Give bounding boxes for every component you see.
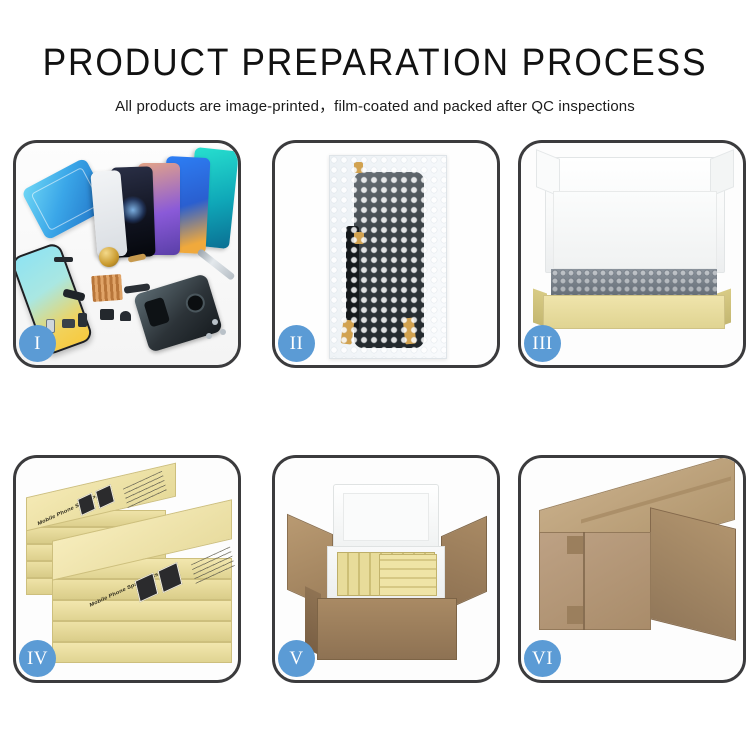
page-title: PRODUCT PREPARATION PROCESS bbox=[26, 44, 724, 82]
box-product-thumbnail bbox=[95, 484, 115, 509]
earpiece-part bbox=[120, 311, 131, 321]
carton-flap-tab bbox=[567, 606, 583, 624]
step-badge-1: I bbox=[19, 325, 56, 362]
step-badge-4: IV bbox=[19, 640, 56, 677]
process-step-card-3: III bbox=[518, 140, 746, 368]
camera-module-part bbox=[100, 309, 114, 320]
foam-box-lid bbox=[333, 484, 439, 550]
carton-flap-tab bbox=[567, 536, 583, 554]
step-badge-5: V bbox=[278, 640, 315, 677]
bubble-wrapped-contents bbox=[551, 269, 717, 297]
step-badge-2: II bbox=[278, 325, 315, 362]
carton-fold-line bbox=[583, 532, 585, 630]
product-preparation-infographic: PRODUCT PREPARATION PROCESS All products… bbox=[0, 0, 750, 750]
copper-mesh-part bbox=[91, 274, 123, 302]
header: PRODUCT PREPARATION PROCESS All products… bbox=[0, 0, 750, 114]
screw-part bbox=[206, 333, 212, 339]
stacked-box bbox=[52, 621, 232, 642]
stacked-box bbox=[52, 600, 232, 621]
bubble-wrap-bag bbox=[329, 155, 447, 359]
carton-front-face bbox=[539, 532, 651, 630]
process-step-grid: I II bbox=[13, 140, 739, 690]
screw-part bbox=[220, 329, 226, 335]
process-step-card-6: VI bbox=[518, 455, 746, 683]
vibration-motor-part bbox=[99, 247, 119, 267]
screw-part bbox=[212, 319, 218, 325]
process-step-card-1: I bbox=[13, 140, 241, 368]
step-badge-3: III bbox=[524, 325, 561, 362]
yellow-boxes-inside bbox=[379, 554, 437, 596]
carton-front bbox=[317, 598, 457, 660]
phone-screen-fan bbox=[94, 149, 238, 255]
stacked-box bbox=[52, 642, 232, 663]
process-step-card-2: II bbox=[272, 140, 500, 368]
step-badge-6: VI bbox=[524, 640, 561, 677]
process-step-card-4: Mobile Phone Spare Parts Mobile Phone Sp… bbox=[13, 455, 241, 683]
box-spec-lines bbox=[123, 471, 167, 509]
carton-right-side bbox=[650, 507, 736, 640]
bubble-texture bbox=[330, 156, 446, 358]
connector-part bbox=[78, 313, 87, 327]
bracket-part bbox=[62, 319, 75, 328]
process-step-card-5: V bbox=[272, 455, 500, 683]
speaker-part bbox=[54, 257, 73, 262]
page-subtitle: All products are image-printed，film-coat… bbox=[6, 99, 745, 114]
box-stack: Mobile Phone Spare Parts Mobile Phone Sp… bbox=[22, 476, 236, 672]
yellow-box-front bbox=[543, 295, 725, 329]
foam-sheet bbox=[553, 191, 717, 269]
